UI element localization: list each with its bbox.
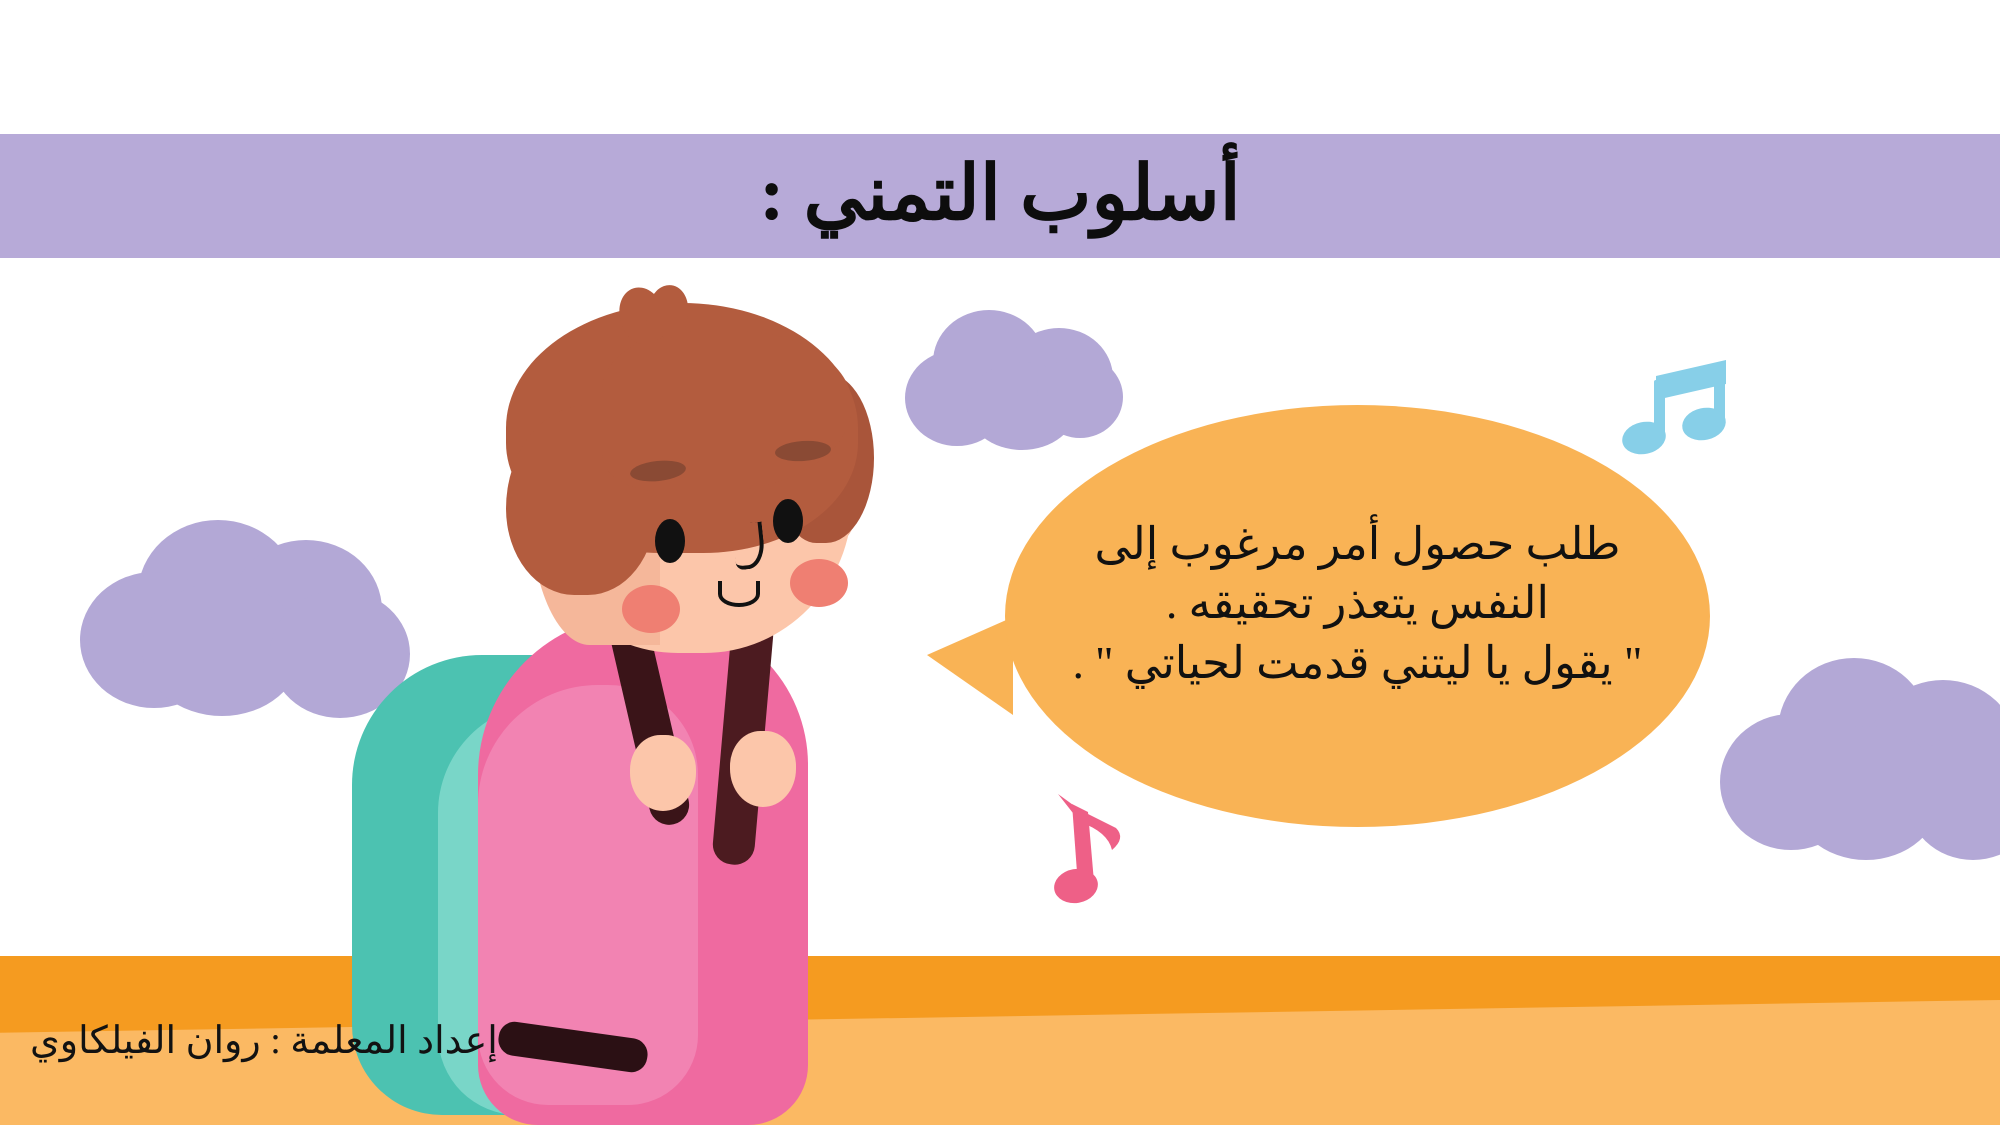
cheek-left [622, 585, 680, 633]
speech-bubble-tail [927, 617, 1013, 715]
hand-right [730, 731, 796, 807]
speech-bubble-text: طلب حصول أمر مرغوب إلى النفس يتعذر تحقيق… [1057, 515, 1658, 693]
speech-bubble-line-1: طلب حصول أمر مرغوب إلى [1057, 515, 1658, 574]
cloud-right [1720, 658, 2000, 863]
hand-left [630, 735, 696, 811]
slide-canvas: طلب حصول أمر مرغوب إلى النفس يتعذر تحقيق… [0, 0, 2000, 1125]
title-band: أسلوب التمني : [0, 134, 2000, 258]
speech-bubble: طلب حصول أمر مرغوب إلى النفس يتعذر تحقيق… [1005, 405, 1710, 827]
page-title: أسلوب التمني : [759, 156, 1241, 232]
schoolboy-character [330, 285, 970, 1125]
eye-right [773, 499, 803, 543]
mouth [718, 581, 760, 607]
eye-left [655, 519, 685, 563]
cheek-right [790, 559, 848, 607]
author-credit: إعداد المعلمة : روان الفيلكاوي [30, 1018, 498, 1063]
speech-bubble-line-3: " يقول يا ليتني قدمت لحياتي " . [1057, 634, 1658, 693]
speech-bubble-line-2: النفس يتعذر تحقيقه . [1057, 574, 1658, 633]
